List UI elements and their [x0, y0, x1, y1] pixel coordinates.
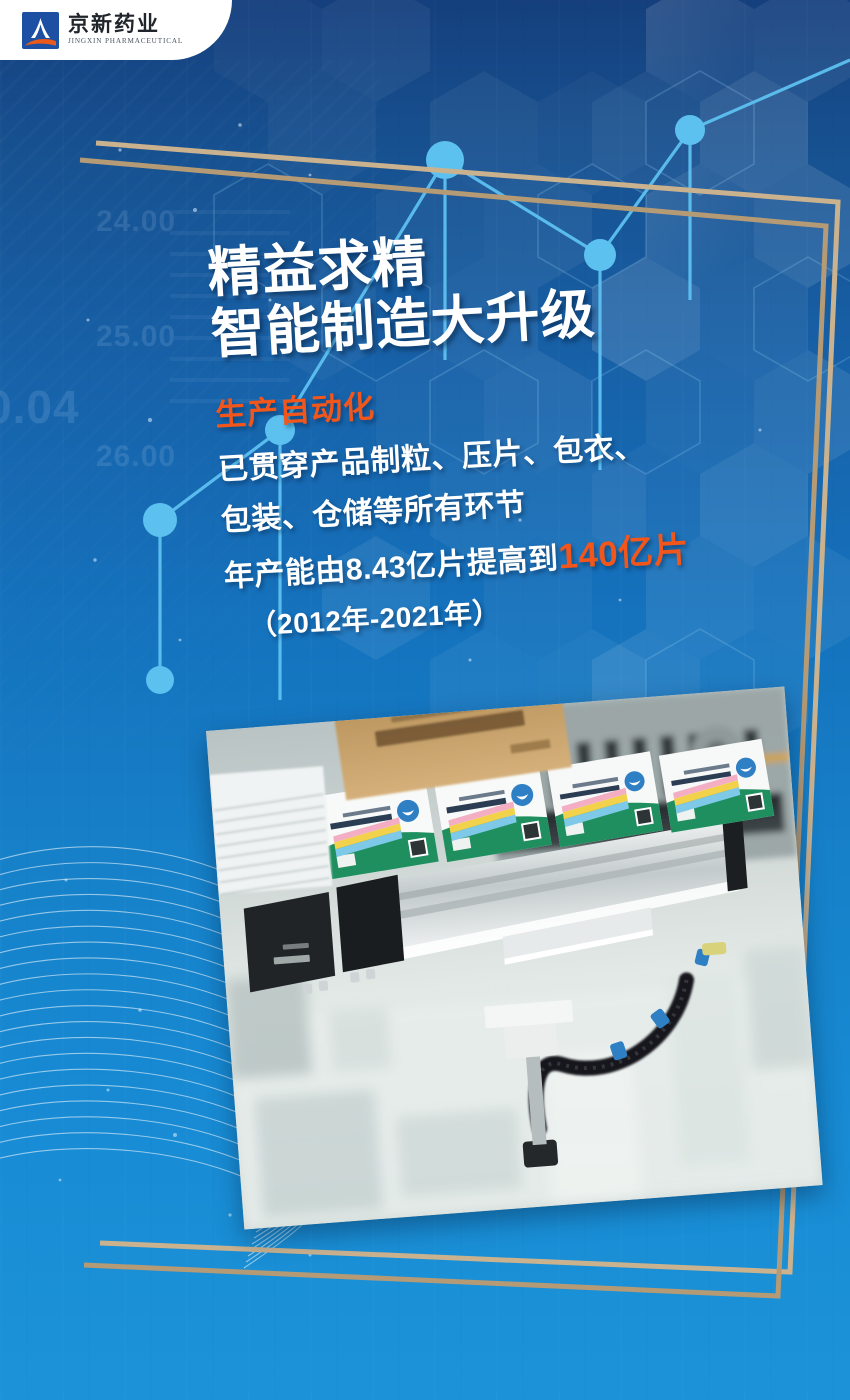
text-content-block: 精益求精 智能制造大升级 生产自动化 已贯穿产品制粒、压片、包衣、 包装、仓储等…: [206, 210, 847, 641]
brand-header: 京新药业 JINGXIN PHARMACEUTICAL: [0, 0, 232, 60]
capacity-highlight: 140亿片: [557, 530, 690, 576]
body-line-1: 已贯穿产品制粒、压片、包衣、: [217, 422, 838, 485]
jingxin-mountain-logo-icon: [22, 12, 59, 49]
logo-swoosh-shape: [25, 37, 56, 46]
factory-photo-illustration: [206, 687, 823, 1230]
body-line-3-prefix: 年产能由8.43亿片提高到: [223, 542, 559, 593]
body-line-3: 年产能由8.43亿片提高到140亿片: [223, 524, 844, 592]
brand-name-cn: 京新药业: [68, 14, 183, 35]
body-line-2: 包装、仓储等所有环节: [220, 473, 841, 536]
brand-name-en: JINGXIN PHARMACEUTICAL: [68, 38, 183, 45]
poster-root: 24.00 25.00 26.00 0.04: [0, 0, 850, 1400]
section-subheading: 生产自动化: [214, 356, 836, 434]
factory-photo: [206, 687, 823, 1230]
